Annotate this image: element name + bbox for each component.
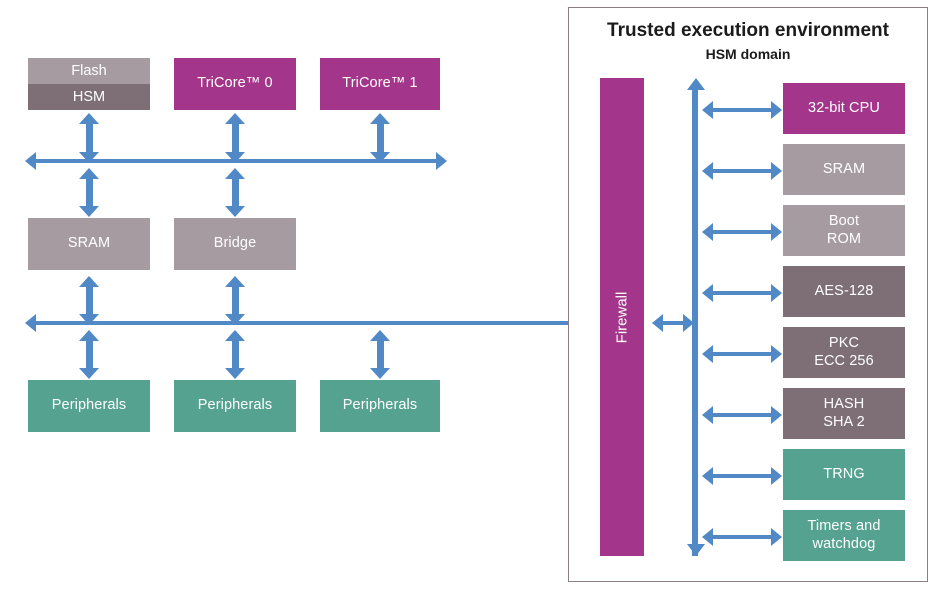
block-peripherals-1: Peripherals xyxy=(28,380,150,432)
block-cpu-32-bit: 32-bit CPU xyxy=(783,83,905,134)
arrow-tricore0-bus-shaft xyxy=(232,123,239,153)
arrow-pbus-peripherals2-head-down xyxy=(225,368,245,379)
block-trng-label: TRNG xyxy=(823,466,864,484)
hsm-internal-bus-line xyxy=(692,89,698,556)
arrow-module-cpu-32-bit-shaft xyxy=(712,108,772,112)
block-firewall: Firewall xyxy=(600,78,644,556)
arrow-module-pkc-ecc-256-head-right xyxy=(771,345,782,363)
arrow-flash-bus-shaft xyxy=(86,123,93,153)
arrow-module-hash-sha-2-shaft xyxy=(712,413,772,417)
arrow-module-timers-watchdog-head-right xyxy=(771,528,782,546)
block-peripherals-2: Peripherals xyxy=(174,380,296,432)
block-bridge-label: Bridge xyxy=(214,235,257,253)
arrow-module-aes-128-head-right xyxy=(771,284,782,302)
block-peripherals-3-label: Peripherals xyxy=(343,397,417,415)
block-aes-128-label: AES-128 xyxy=(815,283,874,301)
block-pkc-ecc-256-label: PKC ECC 256 xyxy=(814,335,874,370)
arrow-module-hash-sha-2-head-right xyxy=(771,406,782,424)
block-trng: TRNG xyxy=(783,449,905,500)
arrow-module-boot-rom-shaft xyxy=(712,230,772,234)
block-peripherals-1-label: Peripherals xyxy=(52,397,126,415)
arrow-bus-sram-shaft xyxy=(86,178,93,207)
block-hsm-sram-label: SRAM xyxy=(823,161,865,179)
block-boot-rom-label: Boot ROM xyxy=(827,213,861,248)
system-bus-arrow-left xyxy=(25,152,36,170)
block-bridge: Bridge xyxy=(174,218,296,270)
block-pkc-ecc-256: PKC ECC 256 xyxy=(783,327,905,378)
arrow-module-trng-shaft xyxy=(712,474,772,478)
arrow-module-timers-watchdog-shaft xyxy=(712,535,772,539)
arrow-tricore1-bus-shaft xyxy=(377,123,384,153)
arrow-module-aes-128-shaft xyxy=(712,291,772,295)
system-bus-arrow-right xyxy=(436,152,447,170)
block-peripherals-3: Peripherals xyxy=(320,380,440,432)
block-tricore-1: TriCore™ 1 xyxy=(320,58,440,110)
arrow-pbus-peripherals3-head-down xyxy=(370,368,390,379)
arrow-module-sram-shaft xyxy=(712,169,772,173)
arrow-firewall-spine-shaft xyxy=(662,321,684,325)
block-sram-label: SRAM xyxy=(68,235,110,253)
arrow-module-cpu-32-bit-head-right xyxy=(771,101,782,119)
block-hash-sha-2-label: HASH SHA 2 xyxy=(823,396,865,431)
block-flash: Flash xyxy=(28,58,150,84)
arrow-pbus-peripherals2-shaft xyxy=(232,340,239,369)
block-firewall-label: Firewall xyxy=(614,291,631,343)
block-timers-and-watchdog: Timers and watchdog xyxy=(783,510,905,561)
arrow-bus-bridge-shaft xyxy=(232,178,239,207)
tee-panel-subtitle: HSM domain xyxy=(568,46,928,62)
arrow-module-boot-rom-head-right xyxy=(771,223,782,241)
arrow-sram-pbus-shaft xyxy=(86,286,93,315)
arrow-bus-sram-head-down xyxy=(79,206,99,217)
block-timers-and-watchdog-label: Timers and watchdog xyxy=(808,518,881,553)
block-tricore-0-label: TriCore™ 0 xyxy=(197,75,272,93)
system-bus-line xyxy=(36,159,436,163)
block-aes-128: AES-128 xyxy=(783,266,905,317)
arrow-module-trng-head-right xyxy=(771,467,782,485)
arrow-module-pkc-ecc-256-shaft xyxy=(712,352,772,356)
tee-panel-title: Trusted execution environment xyxy=(568,20,928,42)
block-tricore-1-label: TriCore™ 1 xyxy=(342,75,417,93)
hsm-architecture-diagram: Flash HSM TriCore™ 0 TriCore™ 1 SRAM Bri… xyxy=(0,0,946,607)
peripheral-bus-arrow-left xyxy=(25,314,36,332)
block-hsm-label: HSM xyxy=(73,89,105,105)
arrow-bridge-pbus-shaft xyxy=(232,286,239,315)
block-hsm: HSM xyxy=(28,84,150,110)
block-hsm-sram: SRAM xyxy=(783,144,905,195)
arrow-bus-bridge-head-down xyxy=(225,206,245,217)
block-cpu-32-bit-label: 32-bit CPU xyxy=(808,100,880,118)
arrow-pbus-peripherals1-head-down xyxy=(79,368,99,379)
block-sram: SRAM xyxy=(28,218,150,270)
arrow-pbus-peripherals3-shaft xyxy=(377,340,384,369)
arrow-module-sram-head-right xyxy=(771,162,782,180)
peripheral-bus-line xyxy=(36,321,592,325)
block-peripherals-2-label: Peripherals xyxy=(198,397,272,415)
block-flash-label: Flash xyxy=(71,63,106,79)
block-tricore-0: TriCore™ 0 xyxy=(174,58,296,110)
arrow-pbus-peripherals1-shaft xyxy=(86,340,93,369)
block-hash-sha-2: HASH SHA 2 xyxy=(783,388,905,439)
block-boot-rom: Boot ROM xyxy=(783,205,905,256)
